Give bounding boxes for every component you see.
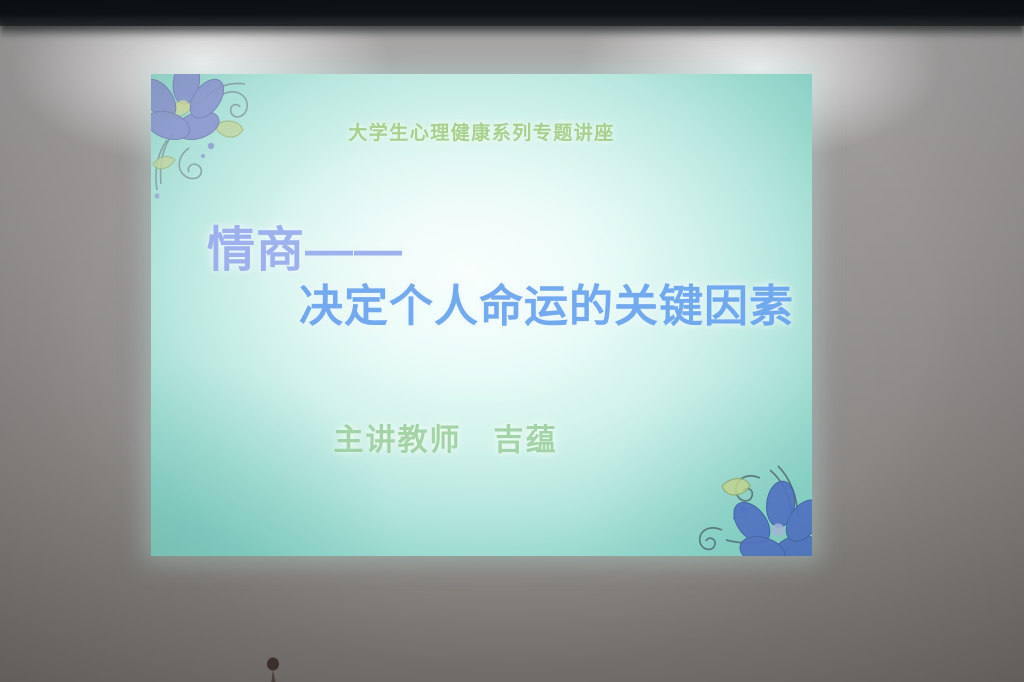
slide-presenter-text: 主讲教师 吉蕴	[151, 415, 812, 459]
flower-ornament-icon	[151, 74, 275, 208]
slide-light-bloom	[151, 74, 812, 556]
slide-title-line-2: 决定个人命运的关键因素	[299, 270, 794, 334]
slide-header-text: 大学生心理健康系列专题讲座	[151, 118, 812, 145]
ceiling-edge-shadow	[0, 22, 1024, 38]
projected-slide: 大学生心理健康系列专题讲座 情商—— 决定个人命运的关键因素 主讲教师 吉蕴	[151, 74, 812, 556]
slide-edge-shading	[151, 74, 812, 556]
slide-title-line-1: 情商——	[207, 210, 403, 280]
projected-slide-photo-scene: 大学生心理健康系列专题讲座 情商—— 决定个人命运的关键因素 主讲教师 吉蕴	[0, 0, 1024, 682]
flower-ornament-icon	[698, 444, 812, 556]
